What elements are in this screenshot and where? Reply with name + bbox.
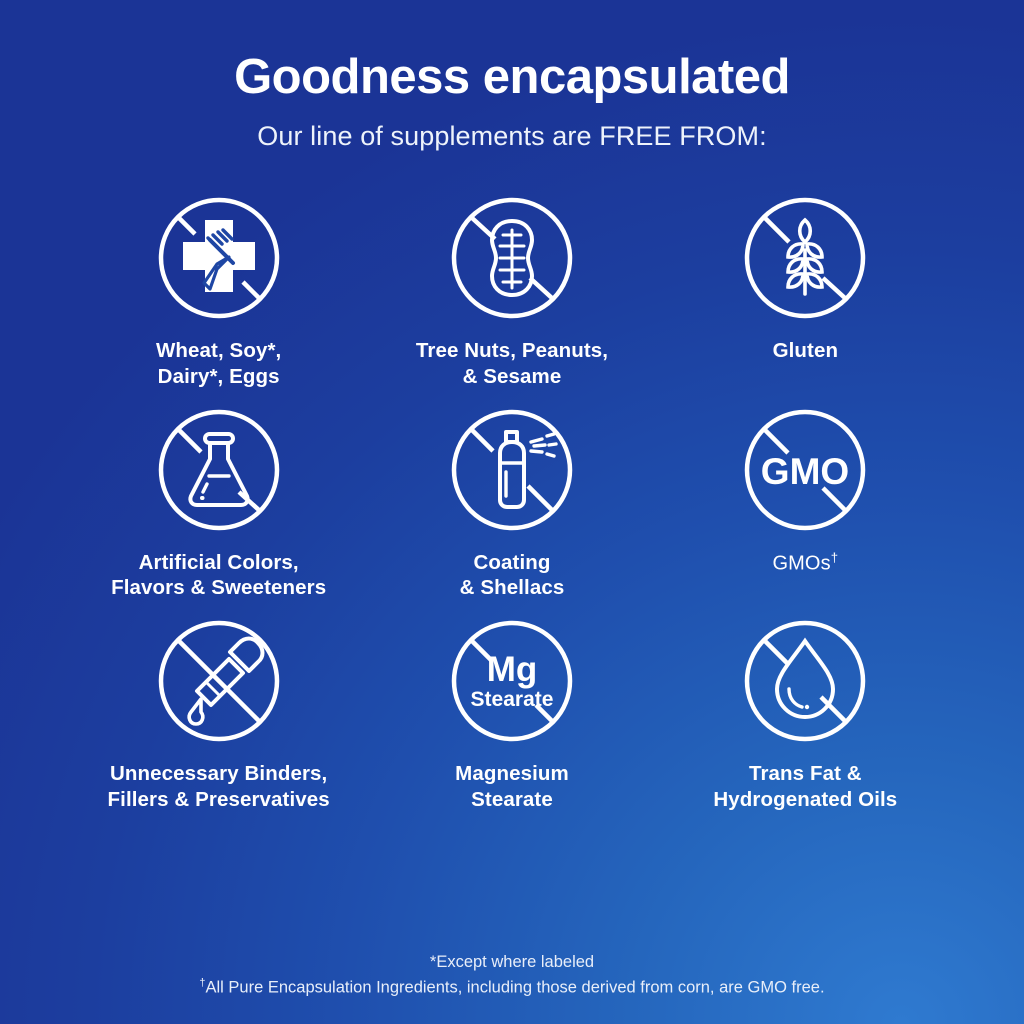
- free-from-label-text: GMOs: [773, 552, 831, 574]
- stearate-badge-text: Stearate: [471, 688, 554, 711]
- promo-poster: Goodness encapsulated Our line of supple…: [0, 0, 1024, 1024]
- free-from-label: Artificial Colors, Flavors & Sweeteners: [111, 550, 326, 601]
- free-from-label: Magnesium Stearate: [455, 761, 569, 812]
- mg-badge-text: Mg: [487, 650, 538, 689]
- no-mg-stearate-icon: Mg Stearate: [448, 617, 576, 745]
- page-subtitle: Our line of supplements are FREE FROM:: [257, 121, 766, 152]
- page-title: Goodness encapsulated: [234, 52, 790, 103]
- free-from-item-binders: Unnecessary Binders, Fillers & Preservat…: [72, 617, 365, 812]
- free-from-item-nuts: Tree Nuts, Peanuts, & Sesame: [365, 194, 658, 389]
- free-from-label: Trans Fat & Hydrogenated Oils: [713, 761, 897, 812]
- free-from-item-gmo: GMO GMOs†: [659, 406, 952, 601]
- free-from-label: Gluten: [773, 338, 839, 364]
- free-from-item-trans-fat: Trans Fat & Hydrogenated Oils: [659, 617, 952, 812]
- no-oil-drop-icon: [741, 617, 869, 745]
- free-from-grid: Wheat, Soy*, Dairy*, Eggs: [72, 194, 952, 812]
- free-from-label: Coating & Shellacs: [460, 550, 565, 601]
- free-from-item-mg-stearate: Mg Stearate Magnesium Stearate: [365, 617, 658, 812]
- free-from-label: Unnecessary Binders, Fillers & Preservat…: [108, 761, 330, 812]
- free-from-item-artificial-colors: Artificial Colors, Flavors & Sweeteners: [72, 406, 365, 601]
- no-spray-can-icon: [448, 406, 576, 534]
- free-from-item-allergens: Wheat, Soy*, Dairy*, Eggs: [72, 194, 365, 389]
- no-peanut-icon: [448, 194, 576, 322]
- free-from-label: Wheat, Soy*, Dairy*, Eggs: [156, 338, 281, 389]
- free-from-label: GMOs†: [773, 550, 839, 577]
- footnotes: *Except where labeled †All Pure Encapsul…: [0, 950, 1024, 1000]
- footnote-dagger-text: All Pure Encapsulation Ingredients, incl…: [205, 978, 824, 996]
- gmo-badge-text: GMO: [761, 451, 849, 492]
- free-from-item-coating: Coating & Shellacs: [365, 406, 658, 601]
- no-dropper-icon: [155, 617, 283, 745]
- free-from-item-gluten: Gluten: [659, 194, 952, 389]
- no-gmo-icon: GMO: [741, 406, 869, 534]
- footnote-marker: †: [831, 550, 838, 565]
- footnote-dagger: †All Pure Encapsulation Ingredients, inc…: [0, 975, 1024, 1000]
- no-fork-cross-icon: [155, 194, 283, 322]
- no-flask-icon: [155, 406, 283, 534]
- no-wheat-stalk-icon: [741, 194, 869, 322]
- footnote-asterisk: *Except where labeled: [0, 950, 1024, 975]
- free-from-label: Tree Nuts, Peanuts, & Sesame: [416, 338, 608, 389]
